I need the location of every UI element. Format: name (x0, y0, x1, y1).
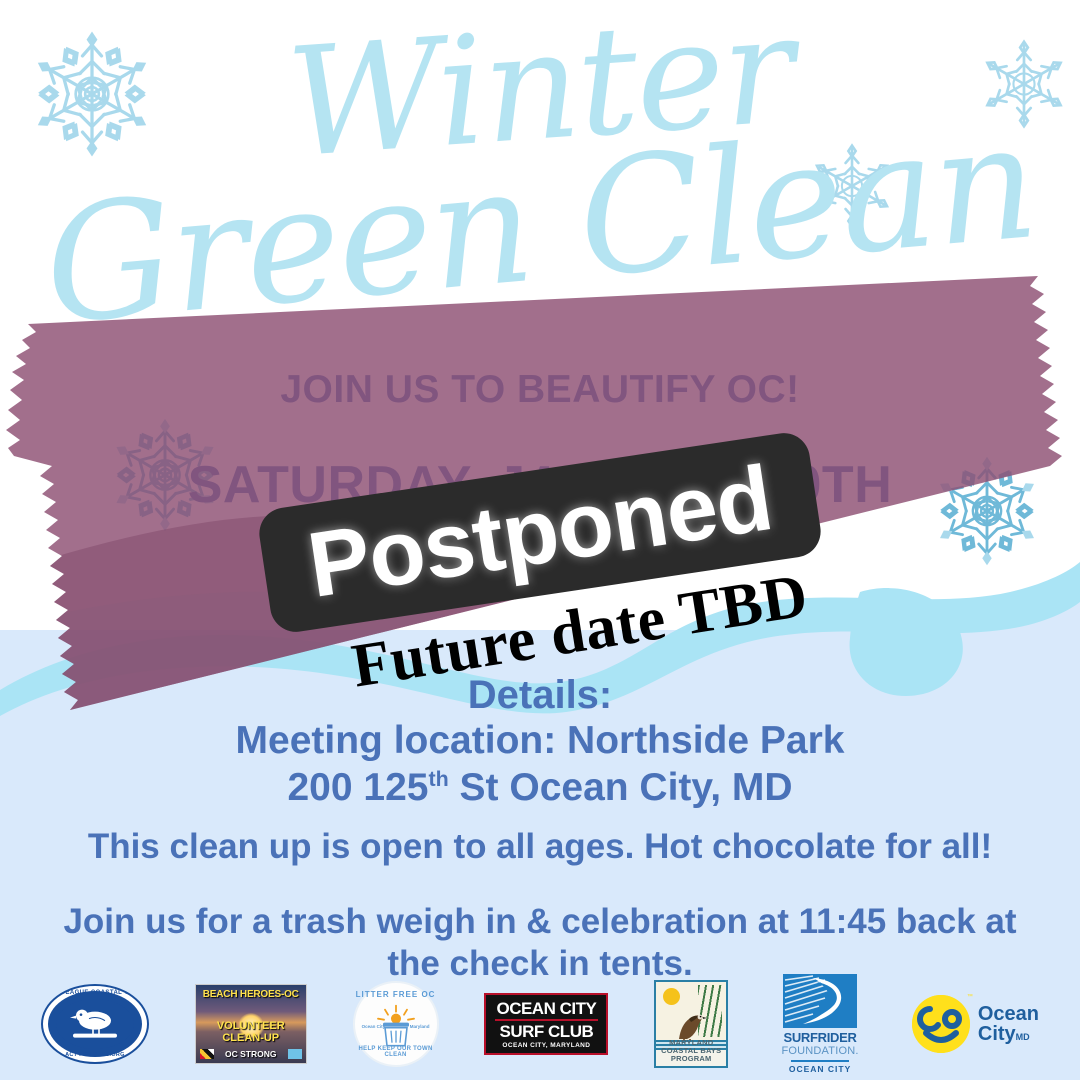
paragraph-spacer (0, 869, 1080, 901)
logo-surfrider-foundation[interactable]: SURFRIDER FOUNDATION. OCEAN CITY (774, 974, 866, 1074)
surfrider-line-1: SURFRIDER (783, 1030, 856, 1045)
surfrider-line-2: FOUNDATION. (781, 1045, 858, 1057)
details-address: 200 125th St Ocean City, MD (0, 765, 1080, 812)
ocmd-line-2: City (978, 1023, 1016, 1045)
logo-ocean-city-surf-club[interactable]: OCEAN CITY SURF CLUB OCEAN CITY, MARYLAN… (484, 993, 608, 1055)
body-copy-block: This clean up is open to all ages. Hot c… (0, 826, 1080, 986)
bh-line-2: VOLUNTEER (217, 1020, 285, 1032)
body-paragraph-1: This clean up is open to all ages. Hot c… (0, 826, 1080, 869)
details-location: Meeting location: Northside Park (0, 718, 1080, 765)
ocean-city-flag-icon (288, 1049, 302, 1059)
logo-litter-free-oc[interactable]: LITTER FREE OC HELP KEEP OUR TOWN CLEAN … (353, 981, 439, 1067)
address-rest: St Ocean City, MD (449, 766, 793, 809)
surfrider-chapter: OCEAN CITY (789, 1064, 851, 1074)
act-top-text: ASSATEAGUE COASTAL TRUST (43, 990, 147, 996)
shorebird-icon (69, 1006, 121, 1040)
logo-maryland-coastal-bays[interactable]: MARYLAND COASTAL BAYS PROGRAM (654, 980, 728, 1068)
event-poster: Winter Green Clean JOIN US TO BEAUTIFY O… (0, 0, 1080, 1080)
ocsc-divider (495, 1019, 598, 1021)
details-block: Details: Meeting location: Northside Par… (0, 672, 1080, 812)
act-bottom-text: ACT FOR BAYS.ORG (43, 1052, 147, 1058)
surfrider-wave-mark (783, 974, 857, 1028)
address-number: 200 125 (287, 766, 428, 809)
snowflake-upper-right-icon (806, 140, 898, 232)
trademark-mark: ™ (967, 994, 973, 1000)
bh-line-1: BEACH HEROES-OC (196, 989, 306, 1000)
headline-text: JOIN US TO BEAUTIFY OC! (0, 368, 1080, 413)
ocsc-line-2: SURF CLUB (500, 1023, 594, 1040)
bh-line-3: CLEAN-UP (222, 1032, 279, 1044)
details-title: Details: (0, 672, 1080, 718)
osprey-icon (671, 1009, 711, 1041)
sponsor-logo-strip: ASSATEAGUE COASTAL TRUST ACT FOR BAYS.OR… (0, 968, 1080, 1080)
ocsc-line-1: OCEAN CITY (496, 1000, 596, 1017)
snowflake-top-right-icon (976, 36, 1072, 132)
lf-top-text: LITTER FREE OC (355, 990, 437, 999)
ocmd-line-1: Ocean (978, 1004, 1039, 1024)
oc-smiley-icon: ™ (912, 995, 970, 1053)
address-ordinal: th (428, 767, 448, 791)
logo-ocean-city-md[interactable]: ™ Ocean CityMD (912, 995, 1039, 1053)
mcb-text: MARYLAND COASTAL BAYS PROGRAM (656, 1039, 726, 1063)
logo-beach-heroes-oc[interactable]: BEACH HEROES-OC VOLUNTEER CLEAN-UP OC ST… (195, 984, 307, 1064)
lf-bottom-text: HELP KEEP OUR TOWN CLEAN (355, 1046, 437, 1058)
ocsc-line-3: OCEAN CITY, MARYLAND (502, 1042, 590, 1049)
snowflake-top-left-icon (24, 26, 160, 162)
ocmd-suffix: MD (1016, 1032, 1030, 1042)
trash-can-icon (376, 1005, 416, 1047)
surfrider-divider (791, 1060, 849, 1062)
logo-assateague-coastal-trust[interactable]: ASSATEAGUE COASTAL TRUST ACT FOR BAYS.OR… (41, 984, 149, 1064)
maryland-flag-icon (200, 1049, 214, 1059)
